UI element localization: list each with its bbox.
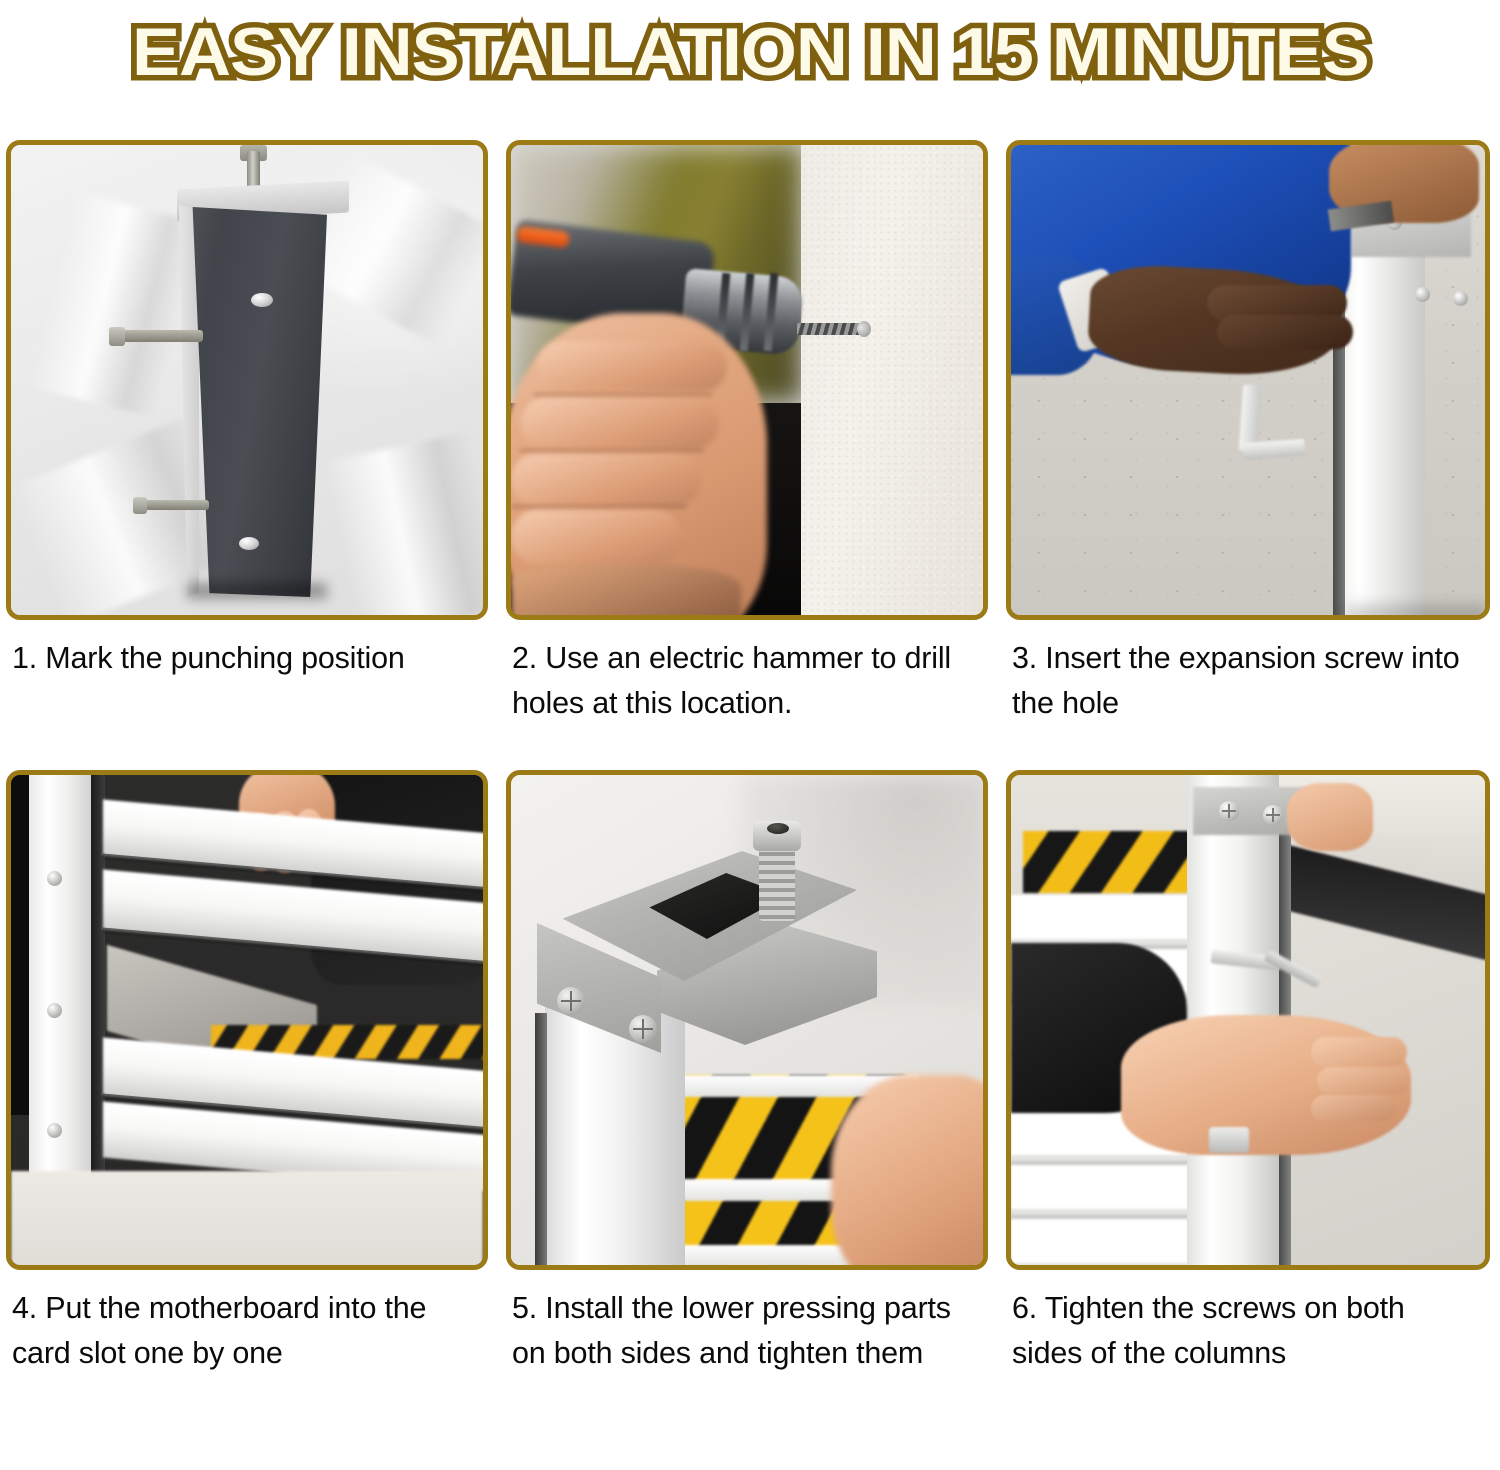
step-caption-2: 2. Use an electric hammer to drill holes… [512,636,982,726]
drill-bit-icon [797,323,861,335]
photo-drilling-wall [511,145,983,615]
step-image-6 [1006,770,1490,1270]
photo-insert-boards [11,775,483,1265]
step-caption-6: 6. Tighten the screws on both sides of t… [1012,1286,1482,1376]
step-card-6: 6. Tighten the screws on both sides of t… [1006,770,1490,1402]
photo-pressing-bracket [511,775,983,1265]
step-card-4: 4. Put the motherboard into the card slo… [6,770,488,1402]
phillips-screw-icon [629,1015,657,1043]
phillips-screw-icon [1219,801,1239,821]
phillips-screw-icon [557,987,585,1015]
upper-hand [1287,783,1373,851]
latch-pin [1209,1127,1249,1153]
step-card-1: 1. Mark the punching position [6,140,488,772]
step-card-5: 5. Install the lower pressing parts on b… [506,770,988,1470]
step-card-2: 2. Use an electric hammer to drill holes… [506,140,988,772]
step-image-4 [6,770,488,1270]
photo-post-bracket [11,145,483,615]
post-body [187,207,327,597]
step-caption-3: 3. Insert the expansion screw into the h… [1012,636,1482,726]
phillips-screw-icon [1263,805,1283,825]
title-banner: EASY INSTALLATION IN 15 MINUTES [0,0,1500,104]
mounting-hole-lower [239,537,259,550]
step-card-3: 3. Insert the expansion screw into the h… [1006,140,1490,772]
page-title: EASY INSTALLATION IN 15 MINUTES [132,18,1369,86]
hand-supporting-bracket [831,1075,983,1265]
hazard-stripe [1023,831,1195,893]
post-column [29,775,91,1205]
step-image-1 [6,140,488,620]
installation-steps-grid: 1. Mark the punching position [0,104,1500,1403]
step-image-5 [506,770,988,1270]
step-image-3 [1006,140,1490,620]
step-caption-4: 4. Put the motherboard into the card slo… [12,1286,482,1376]
photo-tighten-screws [1011,775,1485,1265]
step-caption-5: 5. Install the lower pressing parts on b… [512,1286,982,1376]
step-image-2 [506,140,988,620]
photo-expansion-screw [1011,145,1485,615]
step-caption-1: 1. Mark the punching position [12,636,482,681]
mounting-hole-upper [251,293,273,307]
